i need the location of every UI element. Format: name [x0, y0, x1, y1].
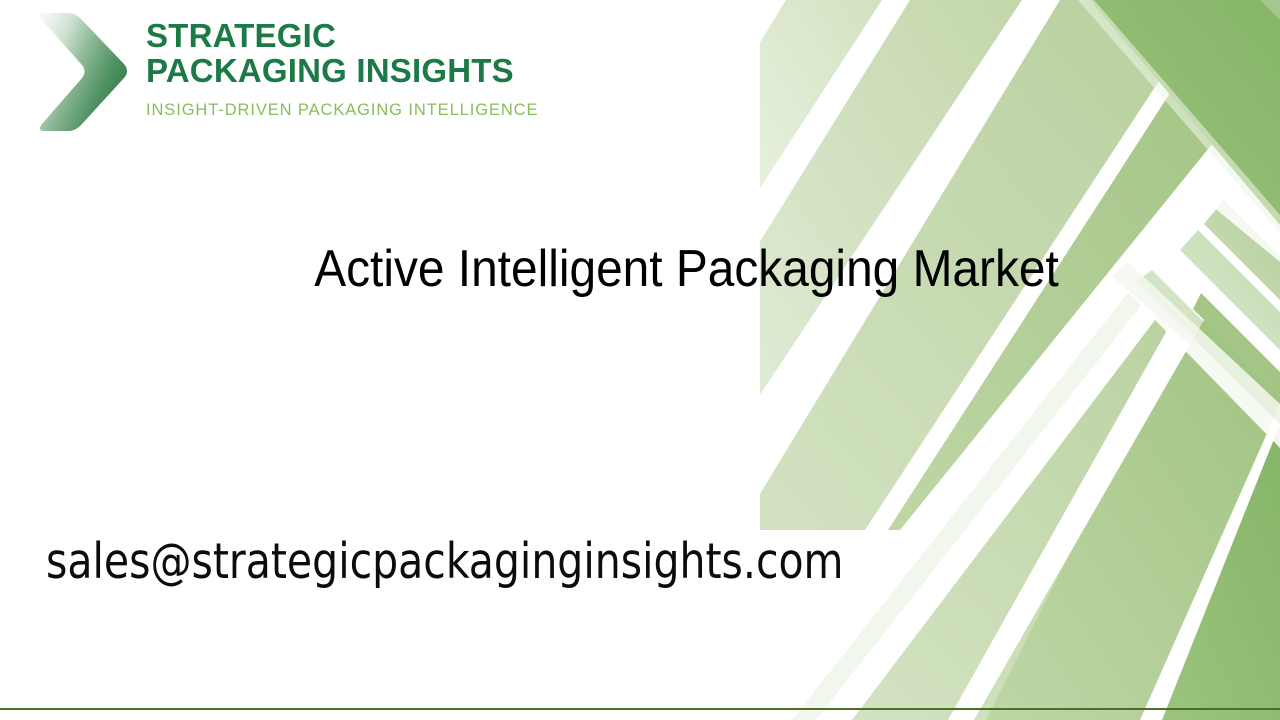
logo-tagline: INSIGHT-DRIVEN PACKAGING INTELLIGENCE [146, 100, 566, 120]
logo-line-2: PACKAGING INSIGHTS [146, 53, 566, 88]
contact-email[interactable]: sales@strategicpackaginginsights.com [46, 532, 844, 592]
bottom-divider [0, 708, 1280, 710]
page-title: Active Intelligent Packaging Market [221, 243, 1153, 295]
slide-root: STRATEGIC PACKAGING INSIGHTS INSIGHT-DRI… [0, 0, 1280, 720]
chevron-arrow-mark-icon [38, 10, 130, 135]
diagonal-green-bands-decoration [760, 0, 1280, 720]
brand-logo: STRATEGIC PACKAGING INSIGHTS INSIGHT-DRI… [38, 8, 558, 138]
logo-line-1: STRATEGIC [146, 18, 566, 53]
logo-wordmark: STRATEGIC PACKAGING INSIGHTS INSIGHT-DRI… [146, 18, 566, 120]
